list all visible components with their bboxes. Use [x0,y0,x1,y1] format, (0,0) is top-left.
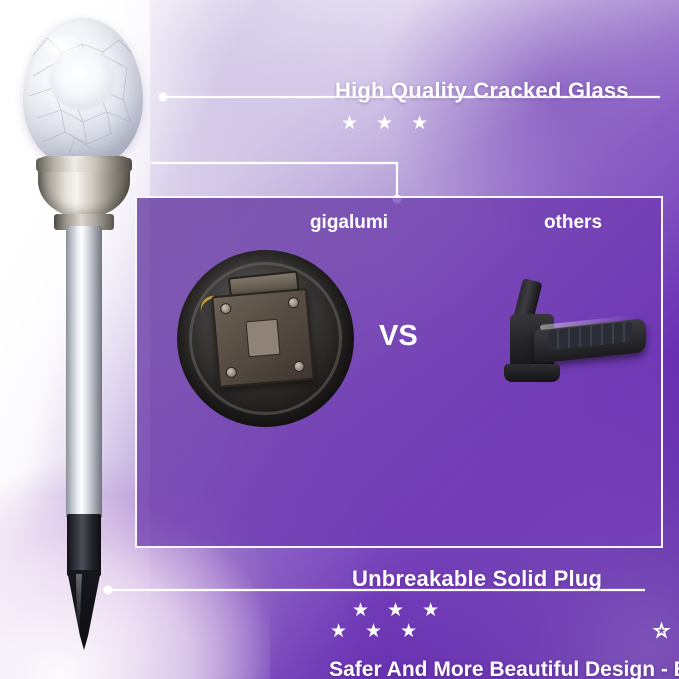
star-icon: ★ [365,622,382,641]
board-chip [245,319,280,358]
brand-label-others: others [473,212,673,234]
star-icon: ★ [400,622,417,641]
lamp-neck-band [36,158,132,172]
vs-label: VS [379,320,418,353]
star-icon: ★ [352,601,369,620]
others-external-panel-photo [492,270,652,400]
star-icon: ★ [387,601,404,620]
board-screw [293,361,305,373]
panel-caption: Safer And More Beautiful Design - Energy… [292,656,679,679]
star-outline-icon: ☆ [653,622,670,641]
energy-board [211,288,315,388]
board-screw [225,366,237,378]
star-icon: ★ [341,114,358,133]
lamp-ground-spike [67,570,101,650]
callout-top-label: High Quality Cracked Glass [335,78,629,104]
lamp-stainless-pole [66,226,102,518]
star-icon: ★ [411,114,428,133]
star-icon: ★ [376,114,393,133]
lamp-plug-shaft [67,514,101,576]
brand-label-gigalumi: gigalumi [249,212,449,234]
board-screw [288,297,300,309]
callout-top-stars: ★ ★ ★ [341,114,428,133]
callout-bottom-label: Unbreakable Solid Plug [352,566,602,592]
star-icon: ★ [422,601,439,620]
panel-caption-line-1: Safer And More Beautiful Design - Energy [292,656,679,679]
callout-bottom-stars: ★ ★ ★ [352,601,439,620]
comparison-panel: gigalumi others VS ★ ★ [135,196,663,548]
cracked-glass-ball [23,18,143,168]
board-screw [220,303,232,315]
gigalumi-rating-stars: ★ ★ ★ [330,622,417,641]
others-base [504,364,560,382]
product-infographic: High Quality Cracked Glass ★ ★ ★ gigalum… [0,0,679,679]
gigalumi-internal-board-photo [177,250,354,427]
star-icon: ★ [330,622,347,641]
glass-ball-highlight [45,34,79,58]
others-rating-stars: ☆ ☆ ☆ [653,622,679,641]
